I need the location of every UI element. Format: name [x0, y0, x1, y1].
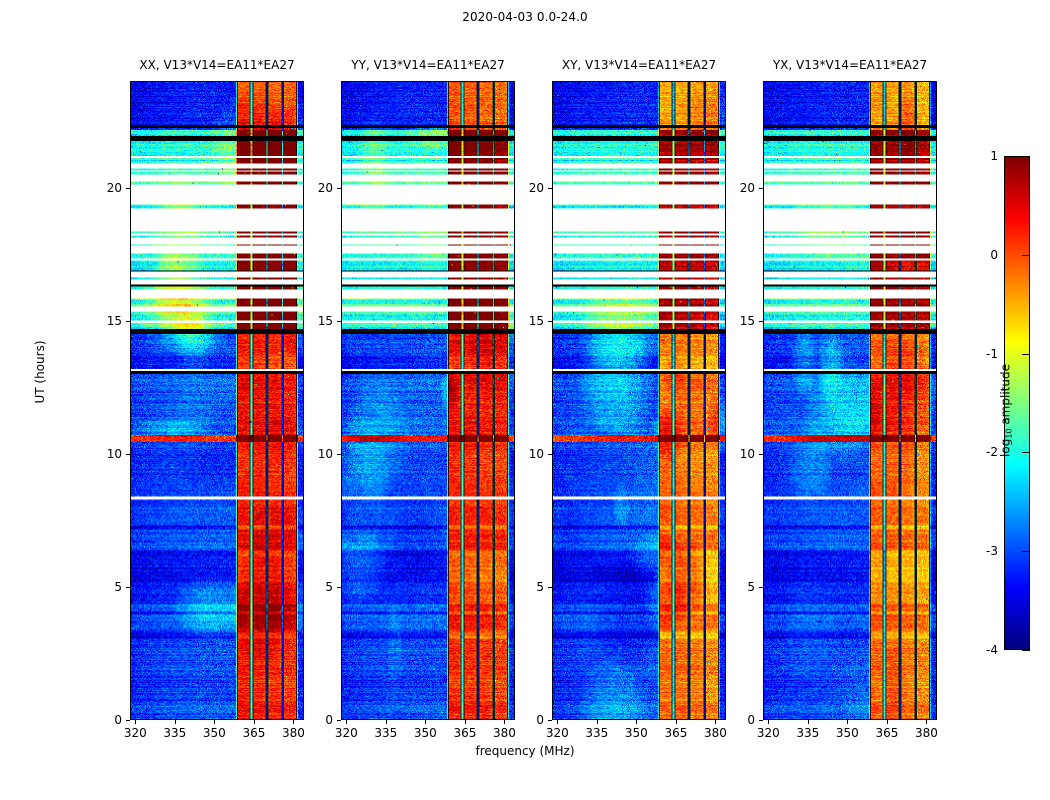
- colorbar-tick-mark: [1022, 551, 1030, 552]
- panel-xx[interactable]: [130, 81, 304, 720]
- colorbar-label-subscript: 10: [1005, 428, 1014, 438]
- colorbar-tick-mark: [1022, 452, 1030, 453]
- x-tick-label: 335: [374, 726, 397, 740]
- y-tick-label: 20: [82, 181, 122, 195]
- colorbar-label-rest: amplitude: [999, 364, 1013, 428]
- y-tick-label: 15: [504, 314, 544, 328]
- x-tick-label: 380: [915, 726, 938, 740]
- y-tick-mark: [548, 454, 552, 455]
- x-tick-label: 335: [163, 726, 186, 740]
- colorbar-tick-mark: [1022, 255, 1030, 256]
- colorbar-tick-label: -2: [958, 445, 998, 459]
- panel-yx[interactable]: [763, 81, 937, 720]
- x-tick-mark: [557, 720, 558, 724]
- y-tick-label: 20: [504, 181, 544, 195]
- x-tick-label: 365: [242, 726, 265, 740]
- x-tick-label: 380: [704, 726, 727, 740]
- x-tick-mark: [254, 720, 255, 724]
- x-tick-label: 350: [203, 726, 226, 740]
- y-tick-label: 10: [82, 447, 122, 461]
- y-tick-label: 10: [293, 447, 333, 461]
- x-tick-label: 365: [875, 726, 898, 740]
- heatmap-image-xy: [553, 82, 725, 719]
- colorbar-tick-label: 0: [958, 248, 998, 262]
- y-tick-label: 15: [82, 314, 122, 328]
- y-axis-label: UT (hours): [33, 292, 47, 452]
- y-tick-mark: [548, 188, 552, 189]
- y-tick-label: 5: [504, 580, 544, 594]
- y-tick-mark: [337, 188, 341, 189]
- y-tick-label: 10: [504, 447, 544, 461]
- panel-yy[interactable]: [341, 81, 515, 720]
- y-tick-mark: [126, 720, 130, 721]
- x-tick-mark: [386, 720, 387, 724]
- y-tick-mark: [548, 587, 552, 588]
- panel-xy[interactable]: [552, 81, 726, 720]
- colorbar-label: log10 amplitude: [999, 311, 1014, 511]
- x-tick-mark: [768, 720, 769, 724]
- colorbar-tick-label: 1: [958, 149, 998, 163]
- x-tick-mark: [847, 720, 848, 724]
- y-tick-mark: [548, 321, 552, 322]
- x-tick-label: 320: [124, 726, 147, 740]
- x-tick-mark: [597, 720, 598, 724]
- y-tick-mark: [337, 321, 341, 322]
- panel-title-xx: XX, V13*V14=EA11*EA27: [139, 58, 294, 72]
- y-tick-mark: [759, 720, 763, 721]
- x-tick-mark: [346, 720, 347, 724]
- y-tick-mark: [337, 454, 341, 455]
- y-tick-mark: [759, 188, 763, 189]
- colorbar-tick-label: -3: [958, 544, 998, 558]
- y-tick-mark: [759, 587, 763, 588]
- y-tick-mark: [759, 321, 763, 322]
- panel-title-xy: XY, V13*V14=EA11*EA27: [562, 58, 716, 72]
- y-tick-mark: [126, 321, 130, 322]
- figure-canvas: 2020-04-03 0.0-24.0 XX, V13*V14=EA11*EA2…: [0, 0, 1050, 800]
- y-tick-mark: [126, 454, 130, 455]
- y-tick-mark: [337, 720, 341, 721]
- x-tick-mark: [887, 720, 888, 724]
- colorbar-tick-mark: [1022, 354, 1030, 355]
- x-tick-mark: [636, 720, 637, 724]
- y-tick-label: 10: [715, 447, 755, 461]
- y-tick-label: 15: [293, 314, 333, 328]
- y-tick-mark: [759, 454, 763, 455]
- x-tick-mark: [676, 720, 677, 724]
- x-tick-mark: [175, 720, 176, 724]
- x-axis-label: frequency (MHz): [0, 744, 1050, 758]
- y-tick-label: 5: [82, 580, 122, 594]
- y-tick-label: 5: [715, 580, 755, 594]
- y-tick-label: 0: [82, 713, 122, 727]
- x-tick-mark: [135, 720, 136, 724]
- x-tick-label: 320: [546, 726, 569, 740]
- x-tick-label: 350: [625, 726, 648, 740]
- y-tick-label: 0: [293, 713, 333, 727]
- x-tick-mark: [926, 720, 927, 724]
- y-tick-label: 0: [504, 713, 544, 727]
- x-tick-mark: [808, 720, 809, 724]
- y-tick-mark: [548, 720, 552, 721]
- y-tick-mark: [126, 587, 130, 588]
- panel-title-yy: YY, V13*V14=EA11*EA27: [351, 58, 504, 72]
- panel-title-yx: YX, V13*V14=EA11*EA27: [773, 58, 927, 72]
- x-tick-label: 380: [282, 726, 305, 740]
- heatmap-image-yy: [342, 82, 514, 719]
- x-tick-label: 350: [414, 726, 437, 740]
- x-tick-mark: [425, 720, 426, 724]
- x-tick-label: 350: [836, 726, 859, 740]
- y-tick-label: 5: [293, 580, 333, 594]
- y-tick-label: 20: [715, 181, 755, 195]
- heatmap-image-xx: [131, 82, 303, 719]
- y-tick-label: 15: [715, 314, 755, 328]
- colorbar-tick-label: -4: [958, 643, 998, 657]
- x-tick-label: 380: [493, 726, 516, 740]
- colorbar-tick-mark: [1022, 156, 1030, 157]
- x-tick-mark: [465, 720, 466, 724]
- x-tick-label: 335: [585, 726, 608, 740]
- y-tick-mark: [126, 188, 130, 189]
- y-tick-label: 0: [715, 713, 755, 727]
- heatmap-image-yx: [764, 82, 936, 719]
- x-tick-label: 365: [453, 726, 476, 740]
- y-tick-label: 20: [293, 181, 333, 195]
- colorbar-label-base: log: [999, 439, 1013, 457]
- x-tick-mark: [214, 720, 215, 724]
- x-tick-label: 335: [796, 726, 819, 740]
- y-tick-mark: [337, 587, 341, 588]
- x-tick-label: 320: [757, 726, 780, 740]
- colorbar-tick-mark: [1022, 650, 1030, 651]
- figure-suptitle: 2020-04-03 0.0-24.0: [0, 10, 1050, 24]
- colorbar-tick-label: -1: [958, 347, 998, 361]
- x-tick-label: 320: [335, 726, 358, 740]
- x-tick-label: 365: [664, 726, 687, 740]
